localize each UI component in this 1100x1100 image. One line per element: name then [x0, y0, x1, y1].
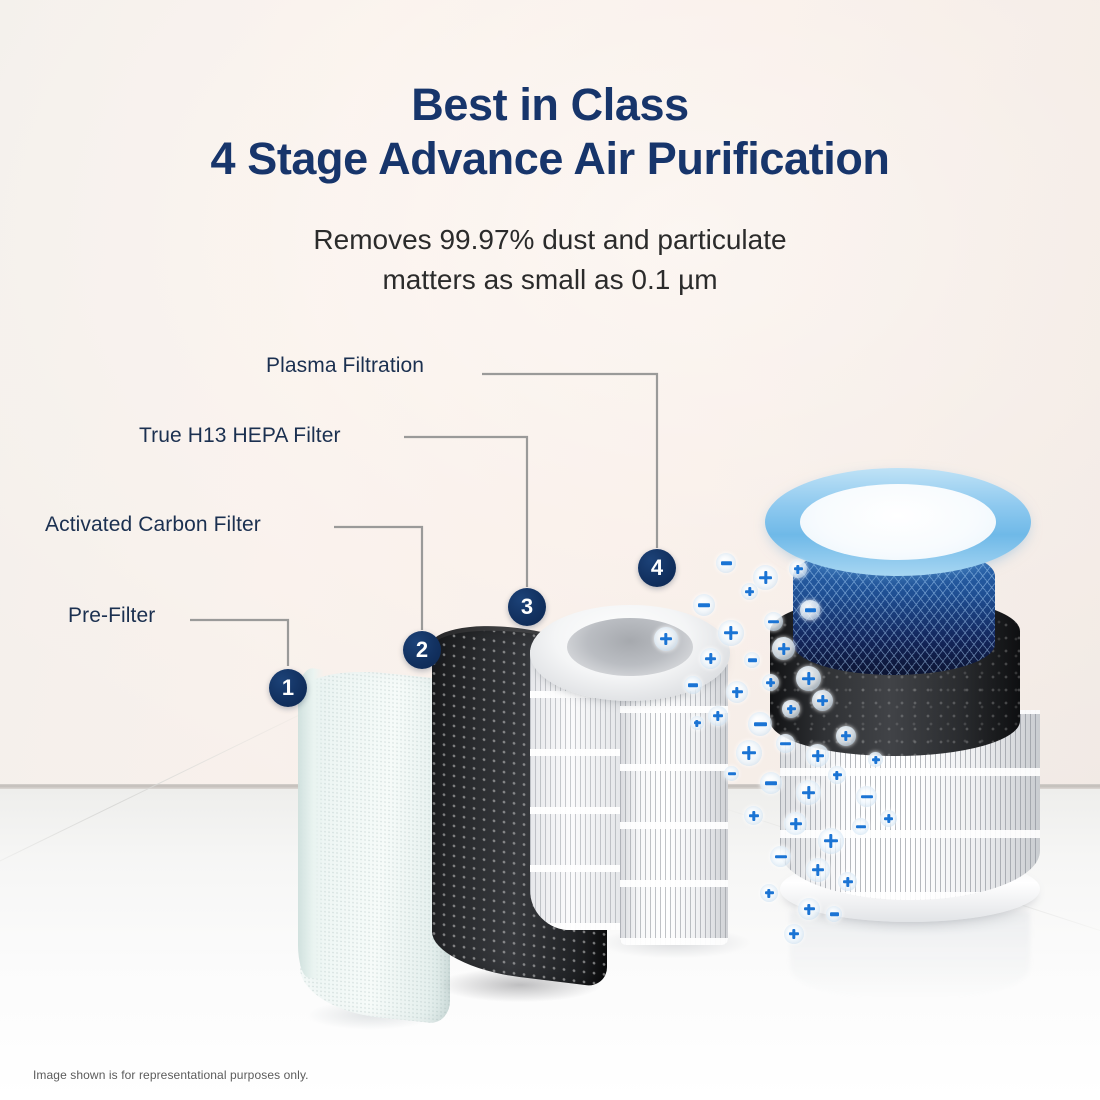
- callout-badge-4[interactable]: 4: [638, 549, 676, 587]
- connector-line-1: [190, 620, 288, 666]
- callout-label-true-h13-hepa-filter: True H13 HEPA Filter: [139, 424, 341, 448]
- infographic-stage: Best in Class 4 Stage Advance Air Purifi…: [0, 0, 1100, 1100]
- callout-label-activated-carbon-filter: Activated Carbon Filter: [45, 513, 261, 537]
- headline-block: Best in Class 4 Stage Advance Air Purifi…: [0, 78, 1100, 187]
- subheadline-line-2: matters as small as 0.1 µm: [0, 260, 1100, 300]
- callout-badge-2[interactable]: 2: [403, 631, 441, 669]
- callout-label-plasma-filtration: Plasma Filtration: [266, 354, 424, 378]
- callout-badge-3[interactable]: 3: [508, 588, 546, 626]
- headline-line-1: Best in Class: [0, 78, 1100, 131]
- subheadline-block: Removes 99.97% dust and particulate matt…: [0, 220, 1100, 300]
- callout-badge-1[interactable]: 1: [269, 669, 307, 707]
- connector-line-4: [482, 374, 657, 548]
- headline-line-2: 4 Stage Advance Air Purification: [0, 131, 1100, 187]
- subheadline-line-1: Removes 99.97% dust and particulate: [0, 220, 1100, 260]
- callout-label-pre-filter: Pre-Filter: [68, 604, 155, 628]
- connector-line-2: [334, 527, 422, 630]
- footnote-text: Image shown is for representational purp…: [33, 1068, 309, 1082]
